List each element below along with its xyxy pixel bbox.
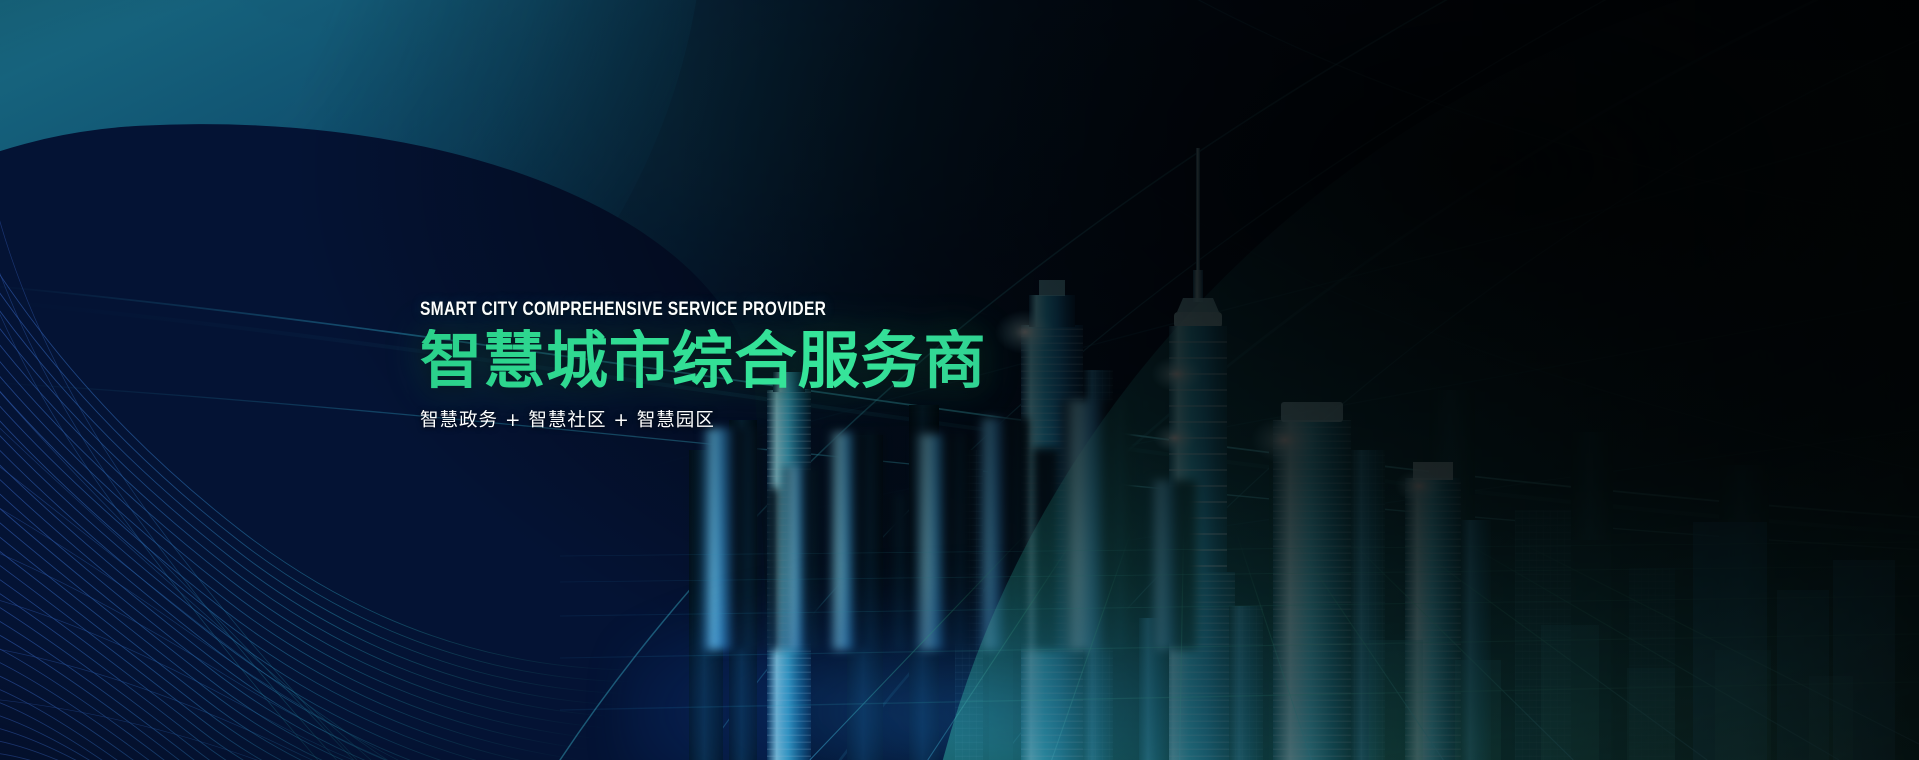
smart-city-banner: SMART CITY COMPREHENSIVE SERVICE PROVIDE… xyxy=(0,0,1919,760)
banner-copy-block: SMART CITY COMPREHENSIVE SERVICE PROVIDE… xyxy=(420,300,1140,432)
banner-subline-chinese: 智慧政务 + 智慧社区 + 智慧园区 xyxy=(420,406,1140,432)
banner-headline-chinese: 智慧城市综合服务商 xyxy=(420,329,1140,392)
banner-kicker-english: SMART CITY COMPREHENSIVE SERVICE PROVIDE… xyxy=(420,300,996,320)
